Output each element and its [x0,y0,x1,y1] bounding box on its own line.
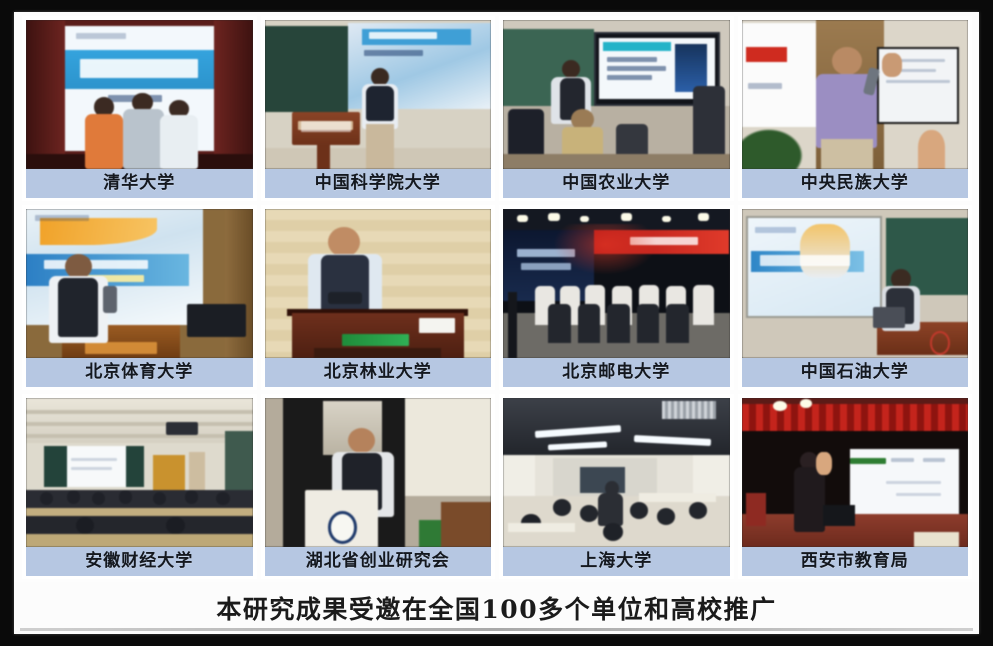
slide-frame: 清华大学 [0,0,993,646]
photo-tile[interactable]: 北京体育大学 [22,205,257,390]
photo-tile[interactable]: 中国农业大学 [499,16,734,201]
photo-image [26,20,253,169]
tile-caption: 中国科学院大学 [265,169,492,198]
photo-image [503,209,730,358]
photo-tile[interactable]: 中央民族大学 [738,16,973,201]
bottom-caption-area: 本研究成果受邀在全国100多个单位和高校推广 [14,582,979,634]
tile-caption: 西安市教育局 [742,547,969,576]
photo-image [503,398,730,547]
photo-image [742,20,969,169]
tile-caption: 湖北省创业研究会 [265,547,492,576]
tile-caption: 北京邮电大学 [503,358,730,387]
tile-caption: 中国农业大学 [503,169,730,198]
photo-tile[interactable]: 清华大学 [22,16,257,201]
photo-tile[interactable]: 西安市教育局 [738,394,973,579]
photo-image [742,209,969,358]
tile-caption: 上海大学 [503,547,730,576]
photo-image [265,20,492,169]
tile-caption: 中国石油大学 [742,358,969,387]
tile-caption: 清华大学 [26,169,253,198]
tile-caption: 中央民族大学 [742,169,969,198]
tile-caption: 北京体育大学 [26,358,253,387]
photo-tile[interactable]: 湖北省创业研究会 [261,394,496,579]
photo-image [503,20,730,169]
photo-tile[interactable]: 上海大学 [499,394,734,579]
photo-image [742,398,969,547]
bottom-caption-text: 本研究成果受邀在全国100多个单位和高校推广 [216,590,776,626]
photo-tile[interactable]: 中国科学院大学 [261,16,496,201]
bottom-divider [20,628,973,631]
photo-tile[interactable]: 北京邮电大学 [499,205,734,390]
photo-tile[interactable]: 北京林业大学 [261,205,496,390]
tile-caption: 安徽财经大学 [26,547,253,576]
photo-grid: 清华大学 [22,16,972,579]
photo-tile[interactable]: 中国石油大学 [738,205,973,390]
tile-caption: 北京林业大学 [265,358,492,387]
photo-image [26,209,253,358]
photo-image [265,398,492,547]
slide-board: 清华大学 [14,12,979,634]
photo-image [265,209,492,358]
photo-tile[interactable]: 安徽财经大学 [22,394,257,579]
photo-image [26,398,253,547]
